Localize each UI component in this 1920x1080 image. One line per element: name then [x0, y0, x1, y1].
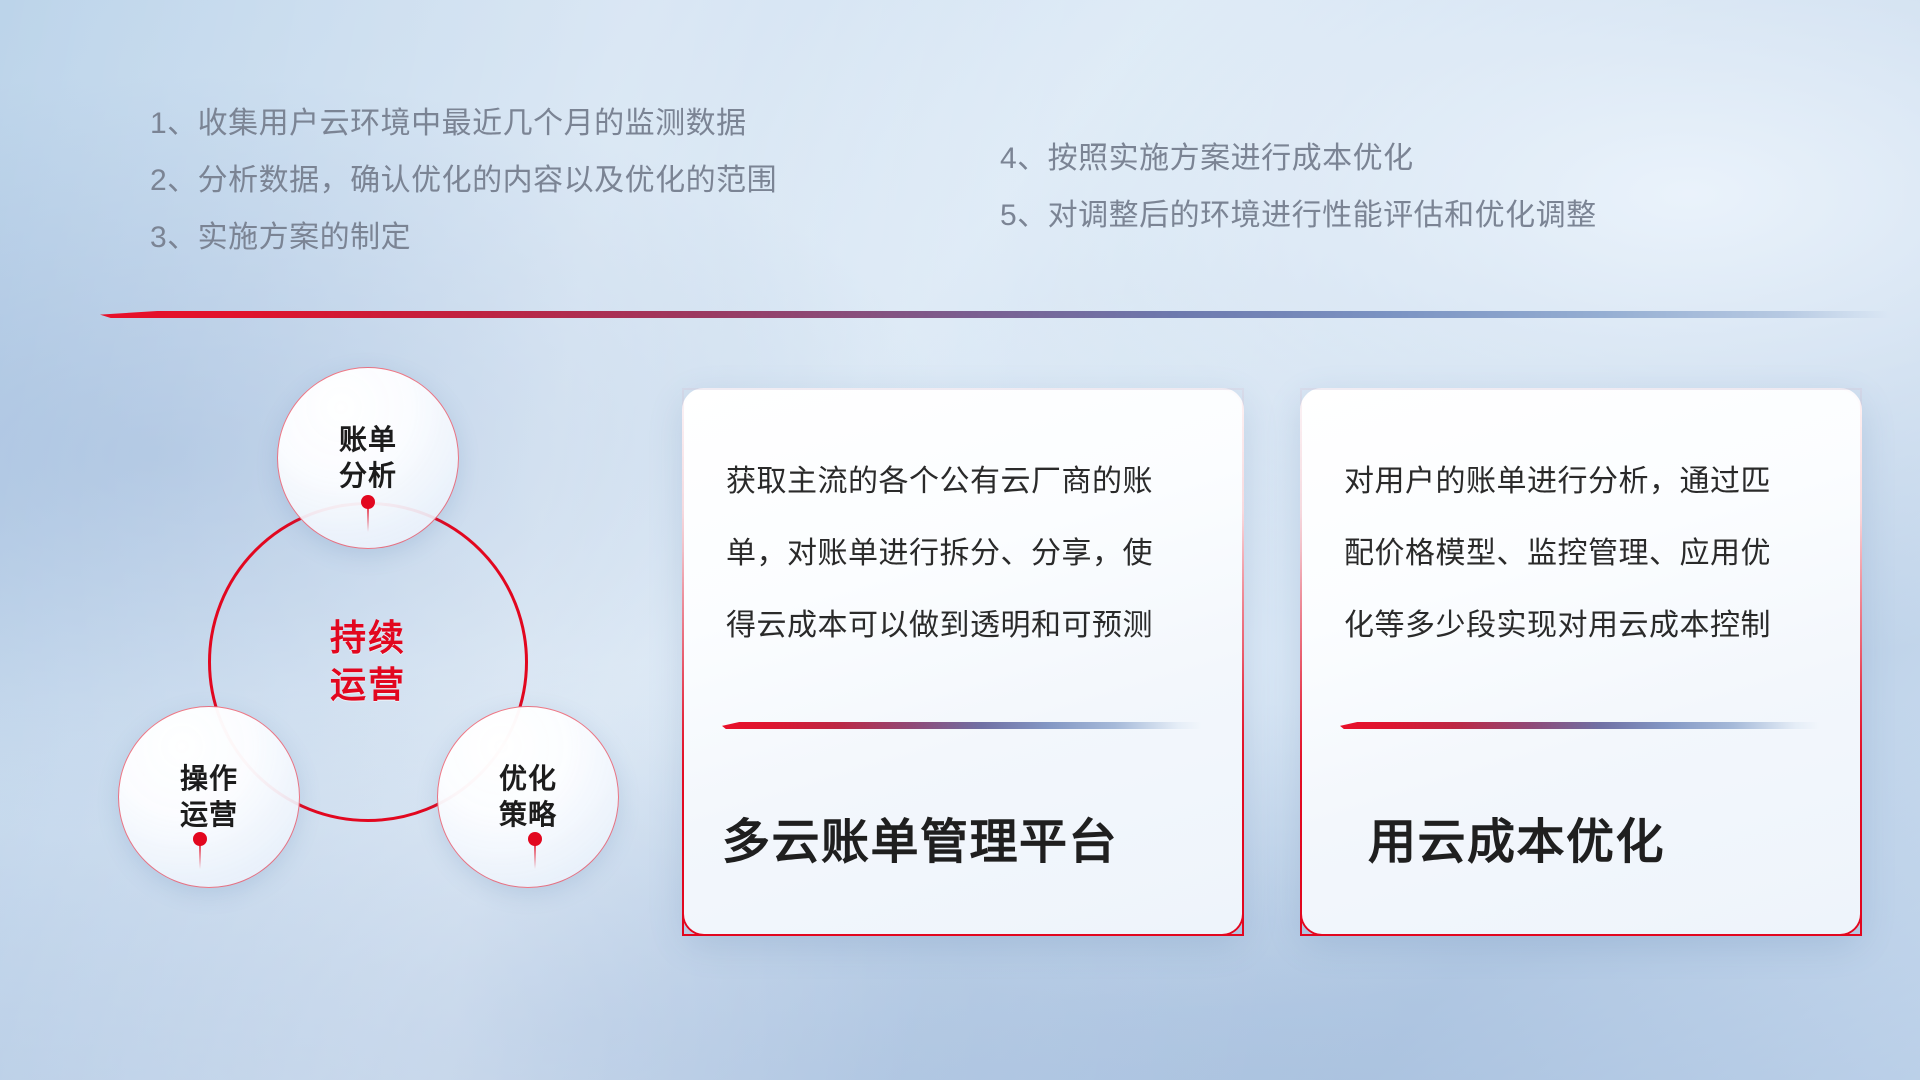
card-multi-cloud-billing-platform[interactable]: 获取主流的各个公有云厂商的账 单，对账单进行拆分、分享，使 得云成本可以做到透明… — [682, 388, 1244, 936]
card-body-line-3: 化等多少段实现对用云成本控制 — [1344, 590, 1820, 662]
node-label-line-2: 分析 — [339, 458, 397, 494]
diagram-node-tail-left — [199, 845, 201, 869]
diagram-node-dot-left — [193, 832, 207, 846]
diagram-node-dot-right — [528, 832, 542, 846]
center-label-line-2: 运营 — [330, 662, 406, 709]
card-body-line-1: 获取主流的各个公有云厂商的账 — [726, 446, 1202, 518]
card-body-line-1: 对用户的账单进行分析，通过匹 — [1344, 446, 1820, 518]
node-label-line-2: 策略 — [499, 797, 557, 833]
steps-right-column: 4、按照实施方案进行成本优化 5、对调整后的环境进行性能评估和优化调整 — [1000, 130, 1597, 244]
steps-left-column: 1、收集用户云环境中最近几个月的监测数据 2、分析数据，确认优化的内容以及优化的… — [150, 95, 777, 266]
section-divider-rule — [100, 311, 1890, 318]
card-body-text: 对用户的账单进行分析，通过匹 配价格模型、监控管理、应用优 化等多少段实现对用云… — [1344, 446, 1820, 662]
card-divider-rule — [722, 722, 1202, 729]
steps-section: 1、收集用户云环境中最近几个月的监测数据 2、分析数据，确认优化的内容以及优化的… — [0, 95, 1920, 270]
card-cloud-cost-optimization[interactable]: 对用户的账单进行分析，通过匹 配价格模型、监控管理、应用优 化等多少段实现对用云… — [1300, 388, 1862, 936]
card-title: 用云成本优化 — [1368, 802, 1665, 872]
card-body-text: 获取主流的各个公有云厂商的账 单，对账单进行拆分、分享，使 得云成本可以做到透明… — [726, 446, 1202, 662]
node-label-line-2: 运营 — [180, 797, 238, 833]
card-divider-rule — [1340, 722, 1820, 729]
diagram-node-operations[interactable]: 操作 运营 — [118, 706, 300, 888]
node-label-line-1: 优化 — [499, 761, 557, 797]
node-label-line-1: 账单 — [339, 422, 397, 458]
diagram-node-optimization-strategy[interactable]: 优化 策略 — [437, 706, 619, 888]
node-label-line-1: 操作 — [180, 761, 238, 797]
diagram-node-tail-top — [367, 508, 369, 532]
step-item-5: 5、对调整后的环境进行性能评估和优化调整 — [1000, 187, 1597, 244]
card-body-line-2: 单，对账单进行拆分、分享，使 — [726, 518, 1202, 590]
diagram-node-tail-right — [534, 845, 536, 869]
card-body-line-2: 配价格模型、监控管理、应用优 — [1344, 518, 1820, 590]
continuous-operation-diagram: 持续 运营 账单 分析 操作 运营 优化 策略 — [100, 350, 660, 950]
step-item-4: 4、按照实施方案进行成本优化 — [1000, 130, 1597, 187]
step-item-3: 3、实施方案的制定 — [150, 209, 777, 266]
step-item-2: 2、分析数据，确认优化的内容以及优化的范围 — [150, 152, 777, 209]
card-body-line-3: 得云成本可以做到透明和可预测 — [726, 590, 1202, 662]
step-item-1: 1、收集用户云环境中最近几个月的监测数据 — [150, 95, 777, 152]
diagram-node-dot-top — [361, 495, 375, 509]
center-label-line-1: 持续 — [330, 615, 406, 662]
card-title: 多云账单管理平台 — [722, 802, 1118, 872]
